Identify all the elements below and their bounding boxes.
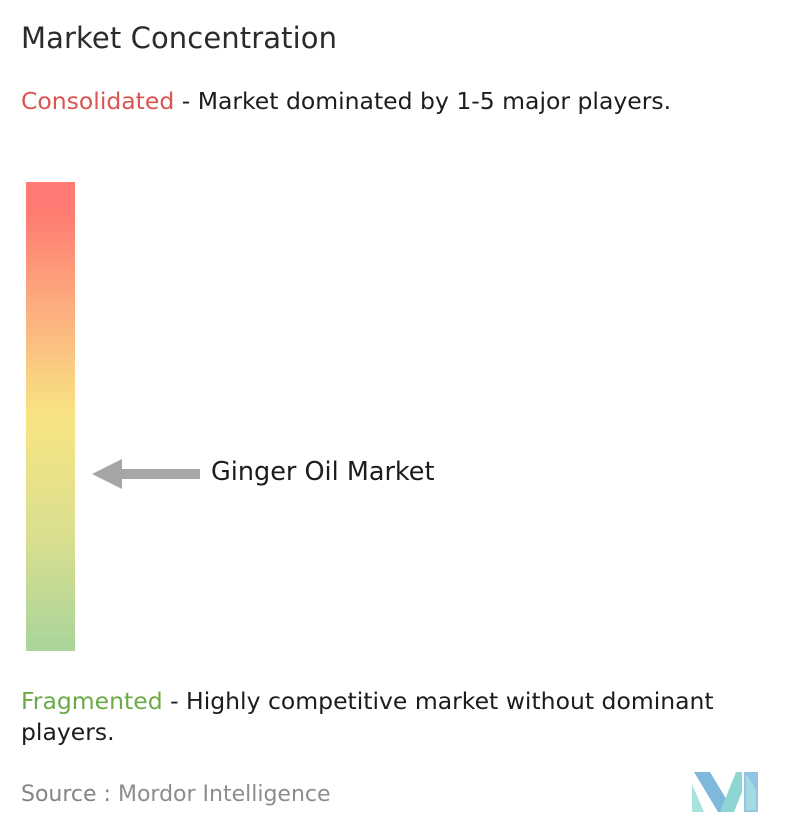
- legend-fragmented: Fragmented - Highly competitive market w…: [21, 686, 781, 748]
- legend-consolidated: Consolidated - Market dominated by 1-5 m…: [21, 86, 781, 117]
- mordor-intelligence-logo: [690, 770, 760, 814]
- page-title: Market Concentration: [21, 21, 337, 55]
- legend-term-consolidated: Consolidated: [21, 87, 174, 115]
- arrow-left-icon: [91, 457, 201, 491]
- legend-description-consolidated: - Market dominated by 1-5 major players.: [174, 87, 671, 115]
- market-concentration-chart: Market Concentration Consolidated - Mark…: [0, 0, 796, 834]
- source-value: Mordor Intelligence: [118, 782, 331, 807]
- source-label: Source :: [21, 782, 111, 807]
- market-name-label: Ginger Oil Market: [211, 455, 434, 489]
- legend-term-fragmented: Fragmented: [21, 687, 163, 715]
- source-attribution: Source : Mordor Intelligence: [21, 782, 331, 807]
- concentration-gradient-scale: [26, 182, 75, 651]
